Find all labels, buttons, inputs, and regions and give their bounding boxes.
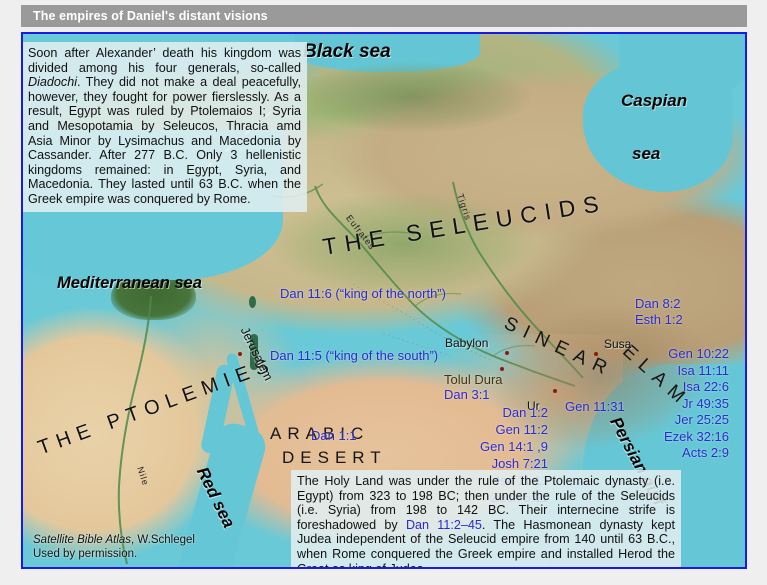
arabic-desert-label-line2: DESERT: [282, 448, 387, 468]
ref-dan-11-5: Dan 11:5 (“king of the south”): [270, 348, 438, 363]
susa-dot: [594, 352, 598, 356]
credit-block: Satellite Bible Atlas, W.Schlegel Used b…: [33, 533, 195, 561]
place-tolul-dura: Tolul Dura: [444, 372, 503, 387]
credit-atlas-title: Satellite Bible Atlas: [33, 534, 131, 546]
black-sea-label: Black sea: [303, 41, 391, 63]
ref-acts-2-9: Acts 2:9: [623, 445, 729, 462]
ref-isa-22-6: Isa 22:6: [623, 379, 729, 396]
ref-jr-49-35: Jr 49:35: [623, 396, 729, 413]
bottom-note-box: The Holy Land was under the rule of the …: [291, 470, 681, 569]
ref-dan-8-2: Dan 8:2: [635, 296, 735, 312]
ref-esth-1-2: Esth 1:2: [635, 312, 735, 328]
top-note-part1: Soon after Alexander’ death his kingdom …: [28, 46, 301, 75]
bottom-note-ref: Dan 11:2–45: [406, 518, 482, 532]
elam-reference-list-top: Dan 8:2 Esth 1:2: [635, 296, 735, 328]
top-note-part2: . They did not make a deal peacefully, h…: [28, 75, 301, 206]
map-frame: Black sea Caspian sea Mediterranean sea …: [21, 32, 747, 569]
jerusalem-dot: [238, 352, 242, 356]
ref-dan-1-2: Dan 1:2: [428, 404, 548, 421]
credit-line-1: Satellite Bible Atlas, W.Schlegel: [33, 533, 195, 547]
top-note-italic: Diadochi: [28, 75, 77, 89]
babylon-dot: [505, 351, 509, 355]
ref-gen-11-31: Gen 11:31: [565, 399, 625, 414]
tolul-dura-dot: [500, 367, 504, 371]
credit-author: , W.Schlegel: [131, 534, 195, 546]
caspian-sea-label-line2: sea: [632, 144, 660, 164]
ref-gen-14-1-9: Gen 14:1 ,9: [428, 438, 548, 455]
ur-dot: [553, 389, 557, 393]
caspian-sea-label-line1: Caspian: [621, 91, 687, 111]
ref-jer-25-25: Jer 25:25: [623, 412, 729, 429]
babylon-label: Babylon: [445, 336, 488, 350]
mediterranean-sea-label: Mediterranean sea: [57, 274, 202, 293]
anatolia-highlands: [273, 52, 573, 142]
page-title: The empires of Daniel's distant visions: [33, 9, 268, 23]
window-title-bar: The empires of Daniel's distant visions: [21, 5, 747, 27]
ref-gen-11-2: Gen 11:2: [428, 421, 548, 438]
ref-dan-11-6: Dan 11:6 (“king of the north”): [280, 286, 446, 301]
elam-reference-list: Gen 10:22 Isa 11:11 Isa 22:6 Jr 49:35 Je…: [623, 346, 729, 462]
ref-gen-10-22: Gen 10:22: [623, 346, 729, 363]
top-note-box: Soon after Alexander’ death his kingdom …: [22, 42, 307, 212]
ref-isa-11-11b: Isa 11:11: [623, 363, 729, 380]
credit-line-2: Used by permission.: [33, 547, 195, 561]
ref-ezek-32-16: Ezek 32:16: [623, 429, 729, 446]
ref-dan-1-1: Dan 1:1: [311, 428, 357, 443]
ref-dan-3-1: Dan 3:1: [444, 387, 490, 402]
